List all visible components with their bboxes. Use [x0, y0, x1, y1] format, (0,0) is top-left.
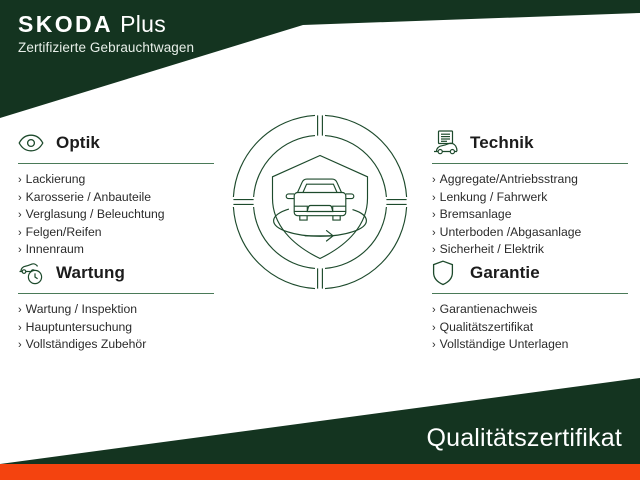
list-item-label: Lenkung / Fahrwerk [440, 189, 548, 206]
chevron-right-icon: › [18, 190, 22, 207]
list-item: ›Aggregate/Antriebsstrang [432, 171, 628, 189]
list-item: ›Bremsanlage [432, 206, 628, 224]
section-technik: Technik ›Aggregate/Antriebsstrang ›Lenku… [432, 128, 628, 259]
certified-vehicle-emblem [231, 113, 409, 291]
chevron-right-icon: › [432, 242, 436, 259]
chevron-right-icon: › [18, 302, 22, 319]
chevron-right-icon: › [432, 172, 436, 189]
list-item: ›Wartung / Inspektion [18, 301, 214, 319]
eye-icon [18, 129, 48, 157]
section-title: Technik [470, 133, 534, 153]
brand-name: SKODA [18, 11, 113, 37]
section-header: Wartung [18, 258, 214, 288]
section-divider [432, 293, 628, 294]
section-divider [18, 293, 214, 294]
list-item-label: Felgen/Reifen [26, 224, 102, 241]
chevron-right-icon: › [18, 225, 22, 242]
list-item: ›Lenkung / Fahrwerk [432, 189, 628, 207]
brand-lockup: SKODAPlus Zertifizierte Gebrauchtwagen [18, 13, 194, 55]
section-header: Technik [432, 128, 628, 158]
shield-icon [432, 259, 462, 287]
list-item-label: Unterboden /Abgasanlage [440, 224, 582, 241]
list-item-label: Bremsanlage [440, 206, 512, 223]
section-title: Garantie [470, 263, 540, 283]
list-item: ›Lackierung [18, 171, 214, 189]
section-header: Optik [18, 128, 214, 158]
chevron-right-icon: › [432, 225, 436, 242]
list-item: ›Vollständige Unterlagen [432, 336, 628, 354]
orange-accent-bar [0, 464, 640, 480]
list-item-label: Aggregate/Antriebsstrang [440, 171, 578, 188]
section-title: Optik [56, 133, 100, 153]
section-garantie: Garantie ›Garantienachweis ›Qualitätszer… [432, 258, 628, 354]
list-item-label: Vollständiges Zubehör [26, 336, 147, 353]
list-item: ›Innenraum [18, 241, 214, 259]
chevron-right-icon: › [432, 320, 436, 337]
list-item: ›Qualitätszertifikat [432, 319, 628, 337]
section-divider [18, 163, 214, 164]
list-item: ›Karosserie / Anbauteile [18, 189, 214, 207]
chevron-right-icon: › [432, 190, 436, 207]
list-item: ›Unterboden /Abgasanlage [432, 224, 628, 242]
list-item: ›Felgen/Reifen [18, 224, 214, 242]
section-header: Garantie [432, 258, 628, 288]
certificate-graphic: SKODAPlus Zertifizierte Gebrauchtwagen O… [0, 0, 640, 480]
section-optik: Optik ›Lackierung ›Karosserie / Anbautei… [18, 128, 214, 259]
section-item-list: ›Aggregate/Antriebsstrang ›Lenkung / Fah… [432, 171, 628, 259]
chevron-right-icon: › [18, 320, 22, 337]
section-title: Wartung [56, 263, 125, 283]
section-wartung: Wartung ›Wartung / Inspektion ›Hauptunte… [18, 258, 214, 354]
chevron-right-icon: › [18, 337, 22, 354]
section-item-list: ›Wartung / Inspektion ›Hauptuntersuchung… [18, 301, 214, 354]
list-item-label: Verglasung / Beleuchtung [26, 206, 165, 223]
list-item-label: Lackierung [26, 171, 86, 188]
list-item-label: Vollständige Unterlagen [440, 336, 569, 353]
chevron-right-icon: › [432, 302, 436, 319]
brand-suffix: Plus [120, 11, 166, 37]
list-item: ›Garantienachweis [432, 301, 628, 319]
checklist-car-icon [432, 129, 462, 157]
car-clock-icon [18, 259, 48, 287]
list-item: ›Hauptuntersuchung [18, 319, 214, 337]
brand-title-line: SKODAPlus [18, 13, 194, 36]
chevron-right-icon: › [18, 207, 22, 224]
section-item-list: ›Garantienachweis ›Qualitätszertifikat ›… [432, 301, 628, 354]
chevron-right-icon: › [432, 207, 436, 224]
list-item-label: Sicherheit / Elektrik [440, 241, 544, 258]
list-item-label: Qualitätszertifikat [440, 319, 533, 336]
list-item: ›Sicherheit / Elektrik [432, 241, 628, 259]
chevron-right-icon: › [18, 242, 22, 259]
list-item: ›Verglasung / Beleuchtung [18, 206, 214, 224]
brand-tagline: Zertifizierte Gebrauchtwagen [18, 40, 194, 55]
list-item-label: Hauptuntersuchung [26, 319, 132, 336]
chevron-right-icon: › [18, 172, 22, 189]
section-item-list: ›Lackierung ›Karosserie / Anbauteile ›Ve… [18, 171, 214, 259]
list-item-label: Wartung / Inspektion [26, 301, 137, 318]
chevron-right-icon: › [432, 337, 436, 354]
section-divider [432, 163, 628, 164]
list-item-label: Karosserie / Anbauteile [26, 189, 151, 206]
list-item-label: Garantienachweis [440, 301, 538, 318]
footer-title: Qualitätszertifikat [426, 424, 622, 453]
list-item-label: Innenraum [26, 241, 84, 258]
list-item: ›Vollständiges Zubehör [18, 336, 214, 354]
